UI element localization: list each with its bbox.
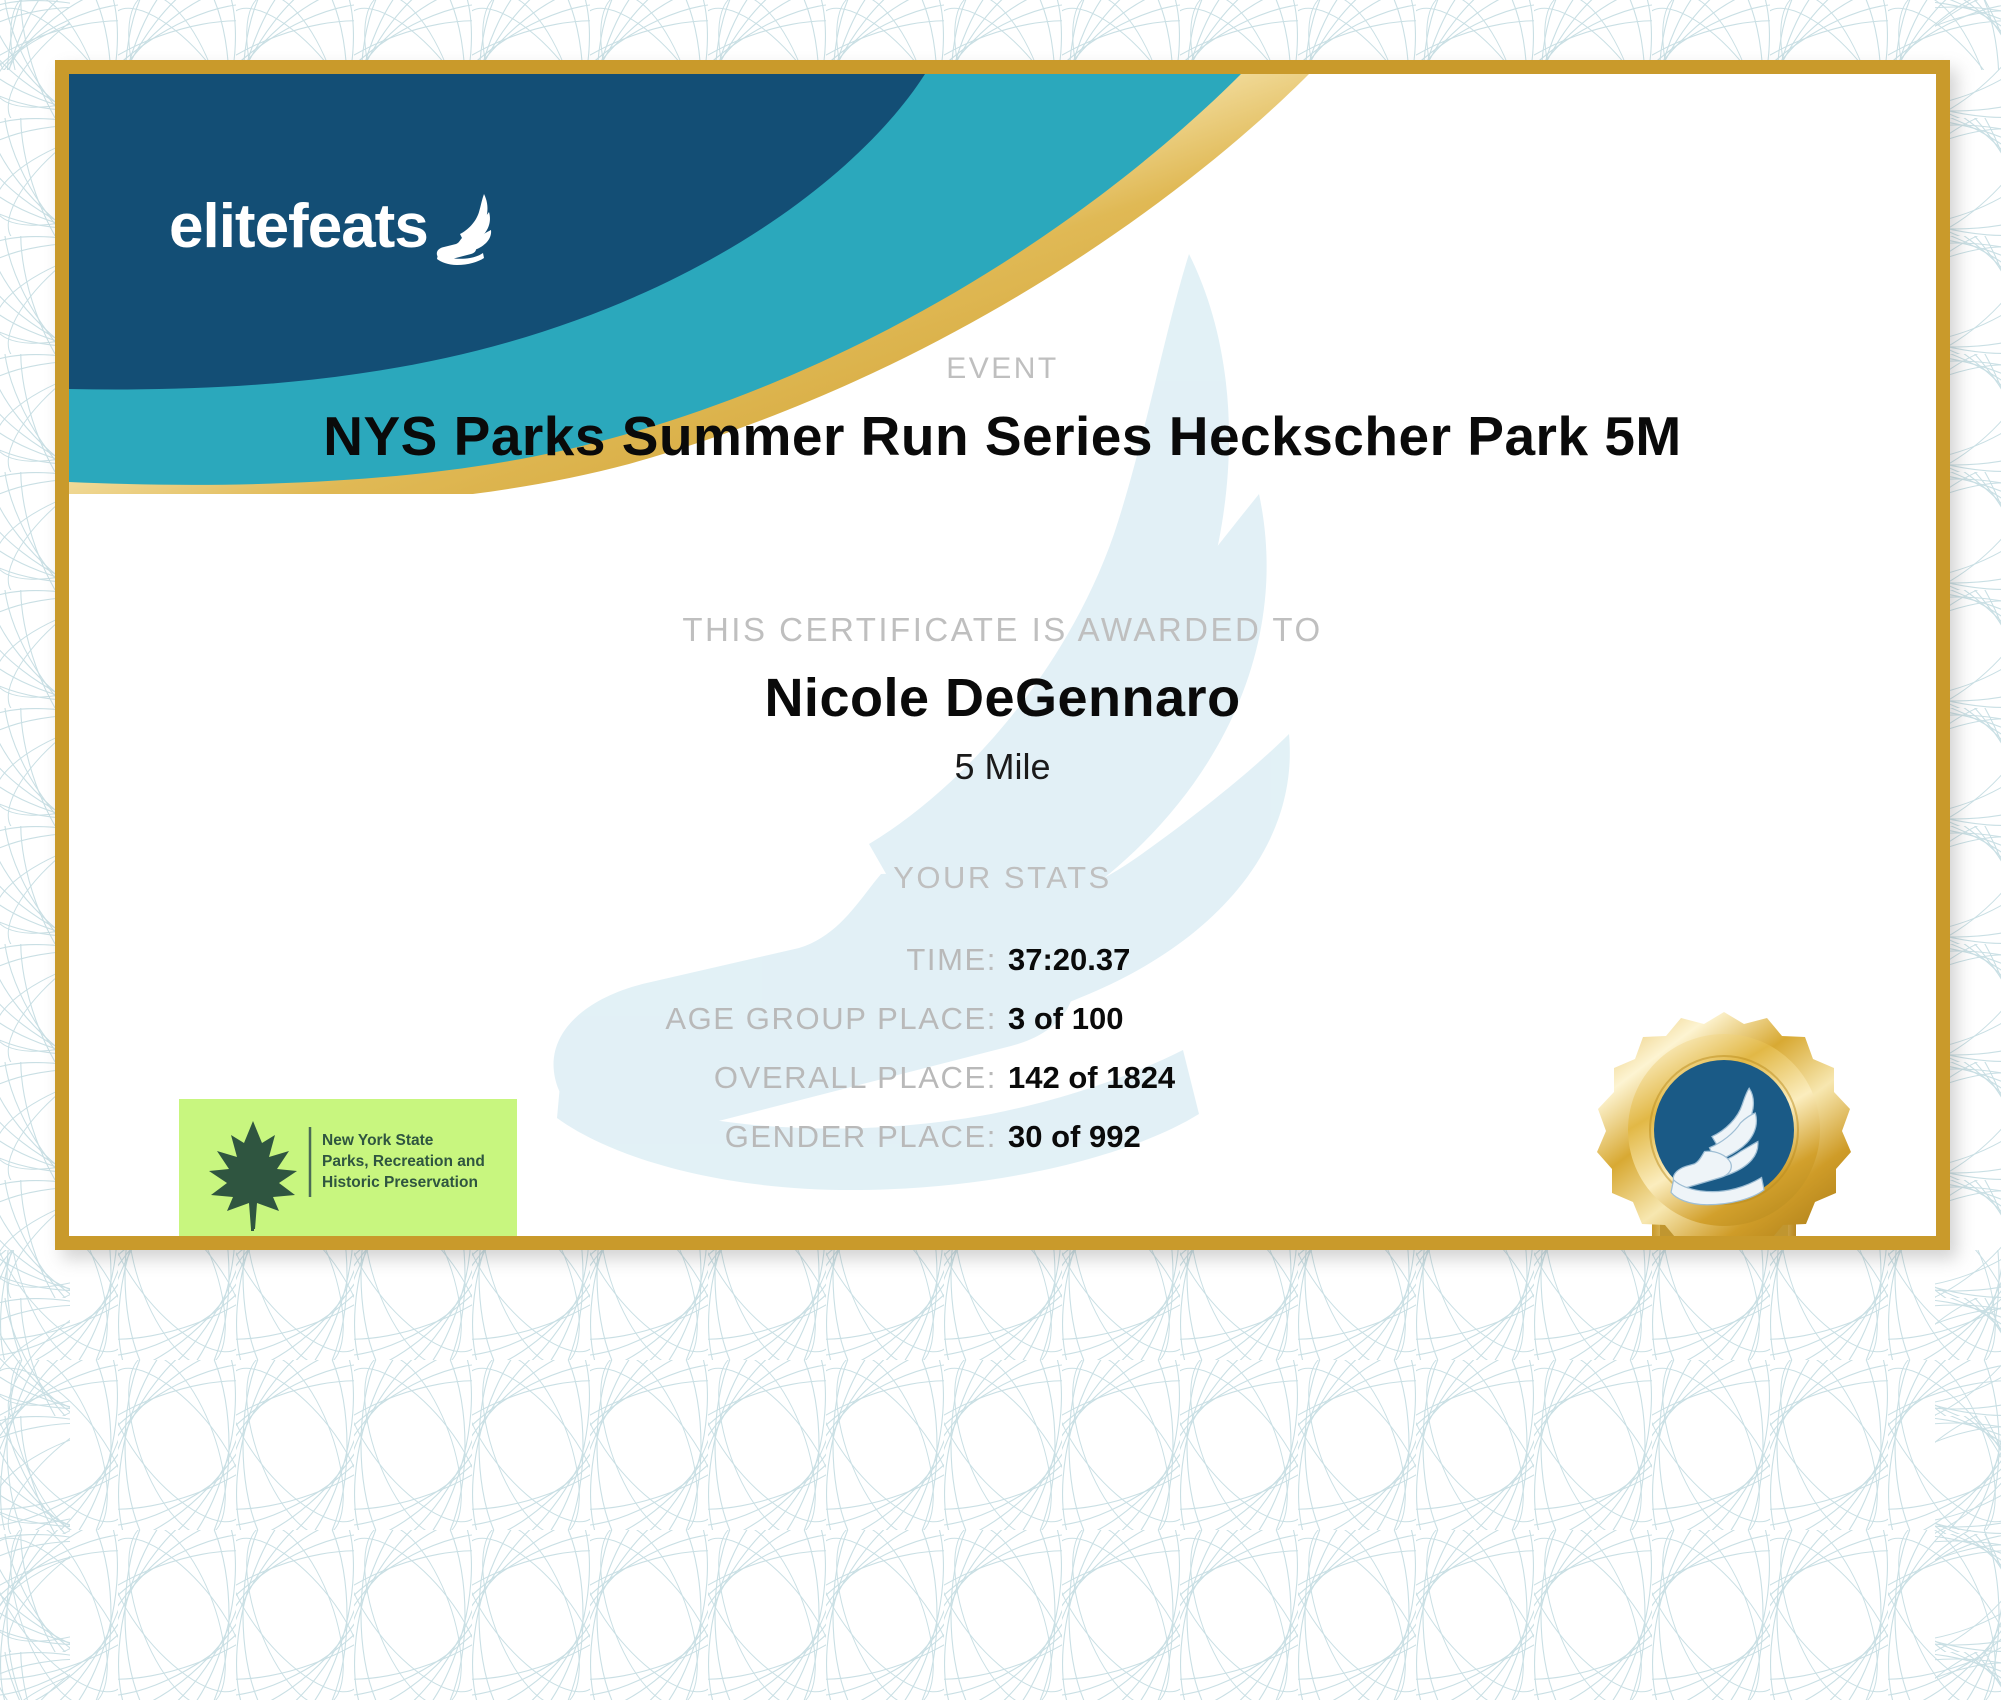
- your-stats-label: YOUR STATS: [69, 860, 1936, 896]
- stat-value-time: 37:20.37: [997, 942, 1438, 978]
- event-label: EVENT: [69, 352, 1936, 386]
- stat-value-gender-place: 30 of 992: [997, 1119, 1438, 1155]
- certificate-card: elitefeats EVENT NYS Parks Summer Ru: [55, 60, 1950, 1250]
- stat-label-age-group-place: AGE GROUP PLACE:: [567, 1001, 997, 1037]
- running-figures-icon: [386, 1238, 499, 1250]
- stat-label-gender-place: GENDER PLACE:: [567, 1119, 997, 1155]
- stat-label-time: TIME:: [567, 942, 997, 978]
- stat-value-overall-place: 142 of 1824: [997, 1060, 1438, 1096]
- stat-row-time: TIME: 37:20.37: [69, 942, 1936, 978]
- stat-value-age-group-place: 3 of 100: [997, 1001, 1438, 1037]
- awarded-to-label: THIS CERTIFICATE IS AWARDED TO: [69, 611, 1936, 649]
- sponsor-banner-top: Long Island State Parks: [211, 1245, 412, 1250]
- event-title: NYS Parks Summer Run Series Heckscher Pa…: [69, 404, 1936, 468]
- certificate-page: elitefeats EVENT NYS Parks Summer Ru: [0, 0, 2001, 1700]
- stat-label-overall-place: OVERALL PLACE:: [567, 1060, 997, 1096]
- recipient-name: Nicole DeGennaro: [69, 667, 1936, 729]
- sponsor-logo-art: New York State Parks, Recreation and His…: [179, 1099, 517, 1250]
- sponsor-agency-line1: New York State: [322, 1132, 434, 1149]
- maple-leaf-icon: [209, 1121, 297, 1231]
- sponsor-logo-nys-parks-summer-run: New York State Parks, Recreation and His…: [179, 1099, 517, 1250]
- sponsor-agency-line3: Historic Preservation: [322, 1174, 478, 1191]
- race-distance: 5 Mile: [69, 746, 1936, 788]
- sponsor-agency-line2: Parks, Recreation and: [322, 1153, 485, 1170]
- certificate-content: EVENT NYS Parks Summer Run Series Hecksc…: [69, 74, 1936, 1236]
- finisher-medal-badge: 2023: [1564, 1004, 1884, 1250]
